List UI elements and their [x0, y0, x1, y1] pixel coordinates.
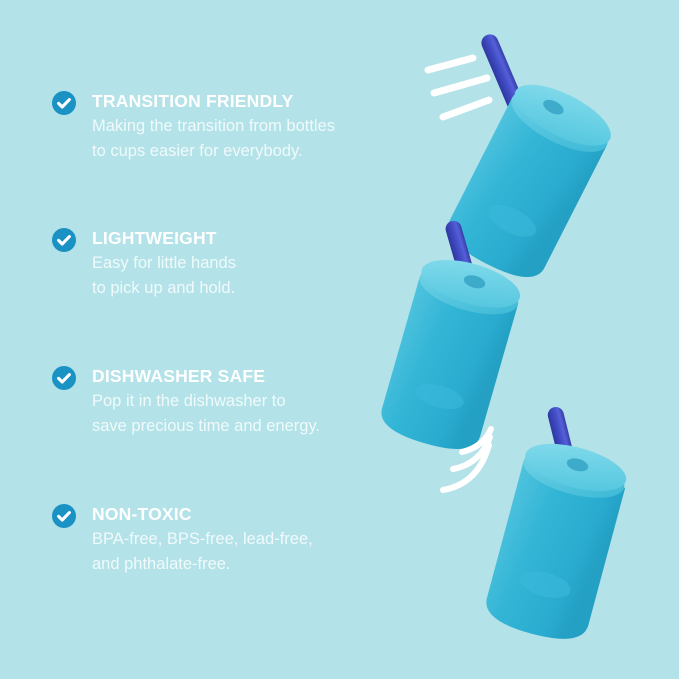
motion-lines-straight [428, 58, 489, 117]
feature-description: Pop it in the dishwasher to save preciou… [92, 389, 392, 439]
feature-title: DISHWASHER SAFE [92, 366, 392, 386]
check-circle-icon [52, 91, 76, 115]
feature-description-line: to cups easier for everybody. [92, 139, 392, 164]
feature-description-line: and phthalate-free. [92, 552, 392, 577]
check-circle-icon [52, 228, 76, 252]
feature-title: LIGHTWEIGHT [92, 228, 392, 248]
feature-description-line: save precious time and energy. [92, 414, 392, 439]
feature-description: Easy for little hands to pick up and hol… [92, 251, 392, 301]
infographic-page: TRANSITION FRIENDLY Making the transitio… [0, 0, 679, 679]
feature-title: NON-TOXIC [92, 504, 392, 524]
feature-item-dishwasher-safe: DISHWASHER SAFE Pop it in the dishwasher… [52, 366, 392, 439]
feature-description-line: Easy for little hands [92, 251, 392, 276]
feature-description: BPA-free, BPS-free, lead-free, and phtha… [92, 527, 392, 577]
feature-list: TRANSITION FRIENDLY Making the transitio… [0, 0, 400, 679]
feature-title: TRANSITION FRIENDLY [92, 91, 392, 111]
feature-description: Making the transition from bottles to cu… [92, 114, 392, 164]
feature-description-line: BPA-free, BPS-free, lead-free, [92, 527, 392, 552]
feature-description-line: to pick up and hold. [92, 276, 392, 301]
feature-item-non-toxic: NON-TOXIC BPA-free, BPS-free, lead-free,… [52, 504, 392, 577]
feature-description-line: Making the transition from bottles [92, 114, 392, 139]
feature-description-line: Pop it in the dishwasher to [92, 389, 392, 414]
check-circle-icon [52, 366, 76, 390]
feature-item-transition-friendly: TRANSITION FRIENDLY Making the transitio… [52, 91, 392, 164]
check-circle-icon [52, 504, 76, 528]
feature-item-lightweight: LIGHTWEIGHT Easy for little hands to pic… [52, 228, 392, 301]
